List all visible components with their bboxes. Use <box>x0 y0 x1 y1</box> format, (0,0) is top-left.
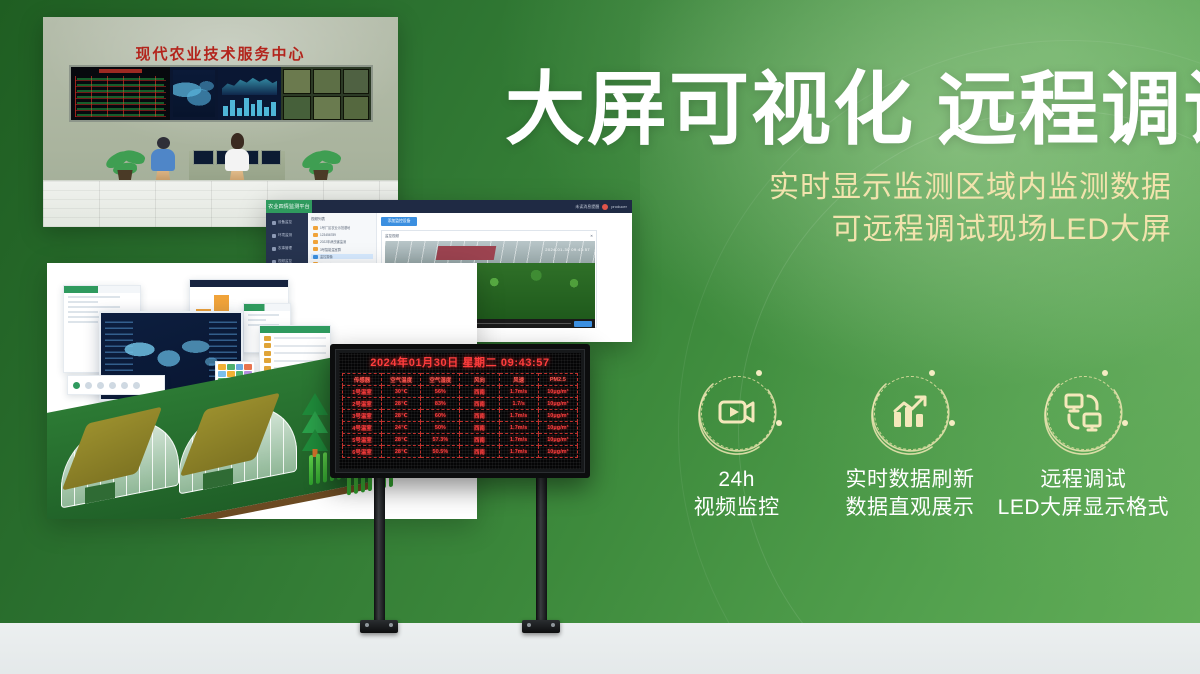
led-post-right <box>536 476 547 622</box>
add-device-button[interactable]: 添加监控设备 <box>381 217 417 226</box>
feature-item-0: 24h 视频监控 <box>650 368 823 528</box>
feature-item-2: 远程调试 LED大屏显示格式 <box>997 368 1170 528</box>
led-col-header: PM2.5 <box>538 374 577 386</box>
video-card-header: 监控视频 ✕ <box>385 234 593 239</box>
folder-icon <box>313 247 318 251</box>
led-col-header: 空气温度 <box>382 374 421 386</box>
env-icon <box>272 234 276 238</box>
sidebar-item-label: 设备监控 <box>278 220 292 225</box>
cell-pm25: 10μg/m³ <box>538 446 577 458</box>
cell-temp: 28℃ <box>382 446 421 458</box>
sidebar-item-1[interactable]: 环境监测 <box>269 230 305 241</box>
sidebar-item-0[interactable]: 设备监控 <box>269 217 305 228</box>
cell-humidity: 83% <box>421 398 460 410</box>
cell-wind-dir: 西南 <box>460 434 499 446</box>
tree-node-4-selected[interactable]: 监控摄像 <box>311 254 373 259</box>
feature-line-2: 数据直观展示 <box>845 494 974 522</box>
cell-pm25: 10μg/m³ <box>538 398 577 410</box>
feature-line-1: 实时数据刷新 <box>845 468 974 491</box>
control-room-photo: 现代农业技术服务中心 <box>43 17 398 227</box>
video-card-title: 监控视频 <box>385 234 399 239</box>
tree-node-label: 1号厂区农业示范基地 <box>320 225 350 230</box>
cell-wind-dir: 西南 <box>460 386 499 398</box>
cell-wind-speed: 1.7m/s <box>499 386 538 398</box>
folder-icon <box>313 240 318 244</box>
cell-wind-speed: 1.7m/s <box>499 410 538 422</box>
headline-left: 大屏可视化 <box>505 65 915 154</box>
led-datetime: 2024年01月30日 星期二 09:43:57 <box>339 356 581 371</box>
close-icon[interactable]: ✕ <box>590 234 593 239</box>
led-data-table: 传感器 空气温度 空气湿度 风向 风速 PM2.5 1号温室30℃56%西南1.… <box>342 373 578 458</box>
feature-caption: 实时数据刷新 数据直观展示 <box>845 466 974 522</box>
led-display-assembly: 2024年01月30日 星期二 09:43:57 传感器 空气温度 空气湿度 风… <box>330 344 590 644</box>
subtitle-line-1: 实时显示监测区域内监测数据 <box>652 168 1172 208</box>
cell-sensor: 4号温室 <box>343 422 382 434</box>
cell-wind-dir: 西南 <box>460 398 499 410</box>
room-video-wall <box>69 65 373 122</box>
led-table-header-row: 传感器 空气温度 空气湿度 风向 风速 PM2.5 <box>343 374 578 386</box>
tree-node-label: 监控摄像 <box>320 254 333 259</box>
feature-line-2: LED大屏显示格式 <box>998 494 1169 522</box>
cell-sensor: 1号温室 <box>343 386 382 398</box>
folder-icon <box>313 233 318 237</box>
camera-icon <box>313 255 318 259</box>
device-icon <box>272 221 276 225</box>
cell-temp: 28℃ <box>382 434 421 446</box>
led-col-header: 传感器 <box>343 374 382 386</box>
cell-wind-speed: 1.7m/s <box>499 434 538 446</box>
person-standing-center <box>225 133 249 187</box>
feature-caption: 远程调试 LED大屏显示格式 <box>998 466 1169 522</box>
platform-topbar: 农业四情监测平台 未读消息提醒 producer <box>266 200 632 213</box>
notifications-label: 未读消息提醒 <box>575 204 599 210</box>
led-base-right <box>522 620 560 633</box>
two-monitors-glyph <box>1061 390 1105 434</box>
page-title: 大屏可视化远程调试 <box>505 58 1177 162</box>
feature-item-1: 实时数据刷新 数据直观展示 <box>823 368 996 528</box>
video-wall-cameras <box>281 67 371 120</box>
tree-node-1[interactable]: 123456789 <box>311 233 373 237</box>
cell-temp: 28℃ <box>382 398 421 410</box>
cell-humidity: 50.5% <box>421 446 460 458</box>
farm-icon <box>272 247 276 251</box>
hd-badge[interactable] <box>574 321 592 327</box>
cell-temp: 24℃ <box>382 422 421 434</box>
headline-right: 远程调试 <box>937 65 1200 154</box>
tree-node-2[interactable]: 2022年病虫害监测 <box>311 239 373 244</box>
feature-line-2: 视频监控 <box>694 494 780 522</box>
background-bottom-strip <box>0 623 1200 674</box>
cell-humidity: 57.3% <box>421 434 460 446</box>
video-wall-map <box>170 67 218 120</box>
sidebar-item-label: 环境监测 <box>278 233 292 238</box>
cell-wind-speed: 1.7/s <box>499 398 538 410</box>
cell-humidity: 60% <box>421 410 460 422</box>
led-board-frame: 2024年01月30日 星期二 09:43:57 传感器 空气温度 空气湿度 风… <box>330 344 590 478</box>
table-row: 2号温室28℃83%西南1.7/s10μg/m³ <box>343 398 578 410</box>
cell-wind-speed: 1.7m/s <box>499 422 538 434</box>
cell-humidity: 50% <box>421 422 460 434</box>
video-camera-icon <box>693 368 781 456</box>
cell-humidity: 56% <box>421 386 460 398</box>
feature-list: 24h 视频监控 <box>650 368 1170 528</box>
bell-icon[interactable] <box>602 204 608 210</box>
table-row: 1号温室30℃56%西南1.7m/s10μg/m³ <box>343 386 578 398</box>
platform-brand: 农业四情监测平台 <box>266 200 312 213</box>
chart-arrow-glyph <box>888 390 932 434</box>
led-col-header: 风向 <box>460 374 499 386</box>
cell-sensor: 3号温室 <box>343 410 382 422</box>
bar-chart-trend-icon <box>866 368 954 456</box>
feature-caption: 24h 视频监控 <box>694 466 780 522</box>
red-panel <box>436 246 496 260</box>
cell-pm25: 10μg/m³ <box>538 422 577 434</box>
led-post-left <box>374 476 385 622</box>
cell-sensor: 2号温室 <box>343 398 382 410</box>
cell-wind-dir: 西南 <box>460 410 499 422</box>
table-row: 4号温室24℃50%西南1.7m/s10μg/m³ <box>343 422 578 434</box>
cell-pm25: 10μg/m³ <box>538 434 577 446</box>
remote-screens-icon <box>1039 368 1127 456</box>
subtitle-line-2: 可远程调试现场LED大屏 <box>652 210 1172 250</box>
tree-node-0[interactable]: 1号厂区农业示范基地 <box>311 225 373 230</box>
banner-stage: 大屏可视化远程调试 实时显示监测区域内监测数据 可远程调试现场LED大屏 现代农… <box>0 0 1200 674</box>
cell-sensor: 6号温室 <box>343 446 382 458</box>
cell-sensor: 5号温室 <box>343 434 382 446</box>
user-name: producer <box>611 204 627 209</box>
cell-temp: 28℃ <box>382 410 421 422</box>
folder-icon <box>313 226 318 230</box>
tree-node-label: 3号智能温室群 <box>320 247 341 252</box>
cell-pm25: 10μg/m³ <box>538 386 577 398</box>
led-base-left <box>360 620 398 633</box>
platform-user-area[interactable]: 未读消息提醒 producer <box>575 204 632 210</box>
tree-node-label: 123456789 <box>320 233 336 237</box>
tree-header: 视频列表 <box>311 217 373 222</box>
tree-node-label: 2022年病虫害监测 <box>320 239 346 244</box>
video-wall-data-table <box>71 67 170 120</box>
video-wall-charts <box>218 67 281 120</box>
led-col-header: 风速 <box>499 374 538 386</box>
table-row: 3号温室28℃60%西南1.7m/s10μg/m³ <box>343 410 578 422</box>
cell-temp: 30℃ <box>382 386 421 398</box>
sidebar-item-2[interactable]: 农事管理 <box>269 243 305 254</box>
led-col-header: 空气湿度 <box>421 374 460 386</box>
camera-play-glyph <box>715 390 759 434</box>
cell-wind-speed: 1.7m/s <box>499 446 538 458</box>
video-timestamp: 2024-01-30 09:43:57 <box>545 247 590 252</box>
cell-wind-dir: 西南 <box>460 422 499 434</box>
table-row: 5号温室28℃57.3%西南1.7m/s10μg/m³ <box>343 434 578 446</box>
table-row: 6号温室28℃50.5%西南1.7m/s10μg/m³ <box>343 446 578 458</box>
led-screen: 2024年01月30日 星期二 09:43:57 传感器 空气温度 空气湿度 风… <box>339 353 581 469</box>
sidebar-item-label: 农事管理 <box>278 246 292 251</box>
room-title: 现代农业技术服务中心 <box>43 43 398 64</box>
cell-wind-dir: 西南 <box>460 446 499 458</box>
tree-node-3[interactable]: 3号智能温室群 <box>311 247 373 252</box>
feature-line-1: 远程调试 <box>1040 468 1126 491</box>
feature-line-1: 24h <box>718 468 755 491</box>
cell-pm25: 10μg/m³ <box>538 410 577 422</box>
